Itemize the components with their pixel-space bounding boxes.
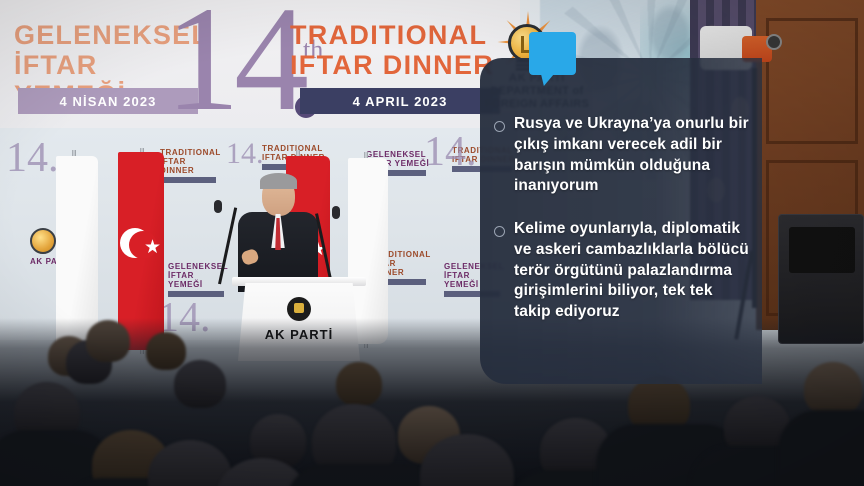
audience-head (336, 362, 382, 406)
banner-date-en: 4 APRIL 2023 (300, 88, 500, 114)
list-item: Rusya ve Ukrayna’ya onurlu bir çıkış imk… (494, 114, 750, 197)
quote-text: Kelime oyunlarıyla, diplomatik ve askeri… (514, 219, 750, 323)
audience-head (804, 362, 862, 416)
audience-head (146, 332, 186, 370)
circle-bullet-icon (494, 121, 505, 132)
speech-bubble-icon (529, 32, 576, 75)
camera-eyepiece (766, 34, 782, 50)
backdrop-en-text: TRADITIONAL IFTAR DINNER (160, 148, 222, 175)
audience-head (174, 360, 226, 408)
microphone-head (332, 206, 340, 219)
backdrop-repeat-block: 14. (424, 134, 477, 172)
backdrop-repeat-block: 14. (6, 140, 59, 178)
audience-head (86, 320, 130, 362)
quote-overlay-panel: Rusya ve Ukrayna’ya onurlu bir çıkış imk… (480, 58, 762, 384)
circle-bullet-icon (494, 226, 505, 237)
list-item: Kelime oyunlarıyla, diplomatik ve askeri… (494, 219, 750, 323)
microphone-head (214, 200, 222, 213)
quote-text: Rusya ve Ukrayna’ya onurlu bir çıkış imk… (514, 114, 750, 197)
banner-number-value: 14 (165, 0, 303, 128)
backdrop-number: 14. (6, 140, 59, 178)
event-banner: GELENEKSEL İFTAR YEMEĞİ 4 NİSAN 2023 14t… (0, 0, 520, 128)
backdrop-number: 14. (424, 134, 477, 172)
screenshot-root: 14. TRADITIONAL IFTAR DINNER GELENEKSEL … (0, 0, 864, 486)
audience-shoulders (778, 410, 864, 486)
backdrop-repeat-block: TRADITIONAL IFTAR DINNER (160, 148, 222, 183)
quote-list: Rusya ve Ukrayna’ya onurlu bir çıkış imk… (494, 114, 750, 345)
speaker-figure (236, 176, 320, 288)
